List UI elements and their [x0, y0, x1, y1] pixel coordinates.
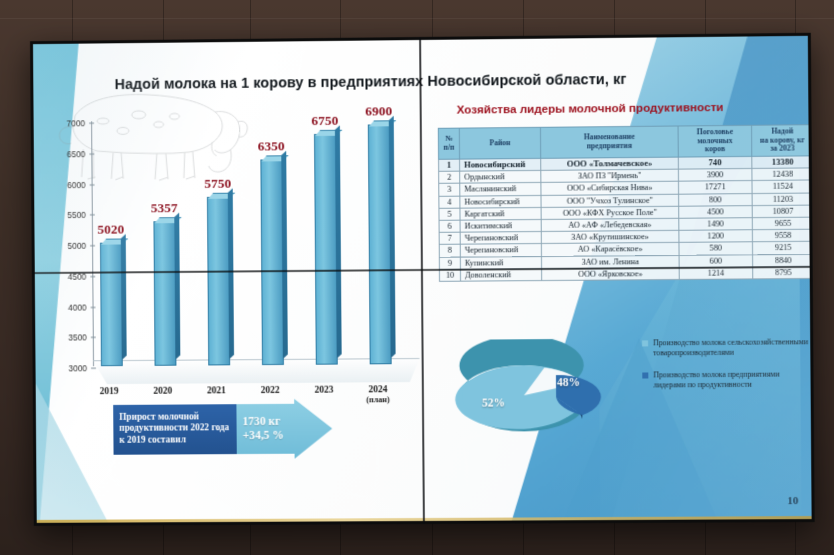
- legend-item: Производство молока сельскохозяйственным…: [642, 337, 811, 359]
- table-cell-n: 2: [439, 171, 460, 183]
- pie-label-48: 48%: [557, 377, 580, 389]
- y-axis-tick: [90, 276, 95, 277]
- table-cell-n: 4: [439, 196, 460, 208]
- bar: 5357: [153, 221, 176, 366]
- table-cell-yield: 12438: [752, 168, 812, 181]
- y-axis-tick: [90, 245, 95, 246]
- table-cell-n: 5: [439, 208, 460, 220]
- bar-side-face: [174, 213, 180, 360]
- table-cell-yield: 9558: [752, 229, 811, 242]
- table-cell-cows: 1200: [679, 230, 753, 243]
- y-axis: 300035004000450050005500600065007000: [44, 123, 91, 362]
- table-cell-yield: 11524: [752, 180, 812, 193]
- bar-column: 6750: [314, 134, 338, 365]
- table-cell-cows: 800: [679, 193, 753, 206]
- y-axis-tick: [90, 215, 95, 216]
- bar-value-label: 5020: [97, 221, 124, 237]
- table-cell-n: 9: [439, 257, 460, 269]
- table-cell-yield: 9655: [752, 217, 811, 230]
- callout-arrow: 1730 кг+34,5 %: [236, 399, 332, 459]
- y-axis-tick-label: 3500: [68, 333, 87, 343]
- legend-item: Производство молока предприятиями лидера…: [642, 369, 811, 391]
- x-axis-label: 2023: [299, 384, 349, 395]
- table-cell-n: 8: [439, 245, 460, 257]
- table-cell-cows: 580: [679, 242, 753, 255]
- y-axis-line: [91, 121, 94, 366]
- y-axis-tick: [89, 123, 94, 124]
- table-column-header: Район: [459, 127, 540, 158]
- pie-legend: Производство молока сельскохозяйственным…: [642, 337, 812, 402]
- y-axis-tick-label: 6000: [67, 180, 86, 190]
- table-cell-cows: 4500: [679, 205, 753, 218]
- growth-callout: Прирост молочной продуктивности 2022 год…: [113, 399, 332, 462]
- bar: 5020: [100, 242, 123, 366]
- bar-series: 502053575750635067506900: [99, 118, 426, 366]
- bar-column: 5357: [153, 221, 176, 366]
- table-cell-region: Черепановский: [460, 244, 541, 257]
- table-cell-cows: 740: [678, 156, 752, 169]
- table-cell-region: Ордынский: [460, 171, 541, 184]
- table-cell-region: Черепановский: [460, 232, 541, 245]
- pie-chart: 52% 48%: [451, 338, 632, 454]
- table-cell-region: Каргатский: [460, 207, 541, 220]
- y-axis-tick: [91, 306, 96, 307]
- table-cell-region: Маслянинский: [460, 183, 541, 196]
- table-header-row: №п/пРайонНаименованиепредприятияПоголовь…: [438, 125, 811, 159]
- bar-chart: 300035004000450050005500600065007000 502…: [43, 100, 434, 432]
- legend-label: Производство молока предприятиями лидера…: [653, 369, 811, 391]
- table-cell-region: Купинский: [460, 256, 541, 269]
- table-cell-cows: 3900: [678, 169, 752, 182]
- table-column-header: Наименованиепредприятия: [540, 126, 678, 158]
- leaders-table: №п/пРайонНаименованиепредприятияПоголовь…: [438, 124, 812, 282]
- callout-value: 1730 кг+34,5 %: [236, 415, 283, 444]
- bar-side-face: [281, 151, 288, 359]
- table-cell-region: Новосибирский: [460, 158, 541, 171]
- table-header: №п/пРайонНаименованиепредприятияПоголовь…: [438, 125, 811, 159]
- bar: 5750: [207, 197, 230, 366]
- pie-chart-svg: [451, 338, 632, 454]
- bar-column: 6350: [260, 159, 284, 365]
- pie-label-52: 52%: [482, 397, 505, 409]
- bar-column: 5750: [207, 197, 230, 366]
- callout-text: Прирост молочной продуктивности 2022 год…: [113, 412, 237, 448]
- table-cell-enterprise: ООО «КФХ Русское Поле": [541, 206, 679, 219]
- bar-side-face: [228, 188, 234, 359]
- table-cell-n: 1: [439, 159, 460, 172]
- y-axis-tick-label: 3000: [69, 363, 88, 373]
- table-cell-cows: 600: [679, 254, 753, 267]
- y-axis-tick: [91, 368, 96, 369]
- bar-side-face: [335, 126, 342, 359]
- table-cell-n: 6: [439, 220, 460, 232]
- y-axis-tick: [89, 153, 94, 154]
- bar-value-label: 6750: [311, 113, 338, 129]
- bar-column: 5020: [100, 242, 123, 366]
- table-column-header: Поголовьемолочныхкоров: [678, 125, 752, 156]
- y-axis-tick: [91, 337, 96, 338]
- legend-label: Производство молока сельскохозяйственным…: [653, 337, 811, 359]
- legend-swatch: [642, 372, 648, 378]
- table-column-header: №п/п: [438, 128, 459, 159]
- bar: 6350: [260, 159, 284, 365]
- table-cell-enterprise: ЗАО «Крутишинское»: [541, 230, 679, 243]
- table-cell-yield: 11203: [752, 193, 812, 206]
- bar-side-face: [121, 234, 127, 360]
- x-axis-label: 2019: [84, 386, 134, 397]
- x-axis-label: 2020: [138, 386, 188, 397]
- table-cell-yield: 10807: [752, 205, 811, 218]
- y-axis-tick-label: 7000: [67, 118, 86, 128]
- y-axis-tick-label: 4000: [68, 302, 87, 312]
- table-cell-yield: 9215: [752, 242, 811, 255]
- table-cell-n: 3: [439, 183, 460, 195]
- y-axis-tick: [90, 184, 95, 185]
- bar-side-face: [389, 116, 396, 358]
- display-screen: Надой молока на 1 корову в предприятиях …: [30, 33, 815, 526]
- table-cell-yield: 13380: [752, 155, 812, 168]
- y-axis-tick-label: 6500: [67, 149, 86, 159]
- bar-value-label: 5357: [151, 200, 178, 216]
- bar: 6900: [368, 124, 392, 364]
- y-axis-tick-label: 5000: [68, 241, 87, 251]
- table-cell-yield: 8840: [753, 254, 812, 267]
- legend-swatch: [642, 340, 648, 346]
- table-cell-enterprise: АО «АФ «Лебедевская»: [541, 218, 679, 231]
- table-cell-cows: 17271: [678, 181, 752, 194]
- bar-value-label: 6350: [258, 138, 285, 154]
- x-axis-label: 2022: [245, 385, 295, 396]
- table-body: 1НовосибирскийООО «Толмачевское»74013380…: [439, 155, 812, 281]
- x-axis-label: 2024(план): [353, 384, 403, 405]
- table-column-header: Надойна корову, кгза 2023: [752, 125, 812, 156]
- table-cell-enterprise: ООО «Толмачевское»: [541, 157, 679, 171]
- bar-value-label: 6900: [365, 103, 392, 119]
- bar-value-label: 5750: [204, 176, 231, 192]
- callout-body: Прирост молочной продуктивности 2022 год…: [113, 404, 237, 455]
- table-cell-region: Искитимский: [460, 219, 541, 232]
- bar-column: 6900: [368, 124, 392, 364]
- y-axis-tick-label: 5500: [67, 210, 86, 220]
- x-axis-label: 2021: [191, 385, 241, 396]
- slide-number: 10: [787, 495, 798, 507]
- table-cell-enterprise: АО «Карасёвское»: [541, 243, 679, 256]
- table-cell-n: 7: [439, 232, 460, 244]
- table-cell-region: Новосибирский: [460, 195, 541, 208]
- table-cell-cows: 1490: [679, 218, 753, 231]
- bar: 6750: [314, 134, 338, 365]
